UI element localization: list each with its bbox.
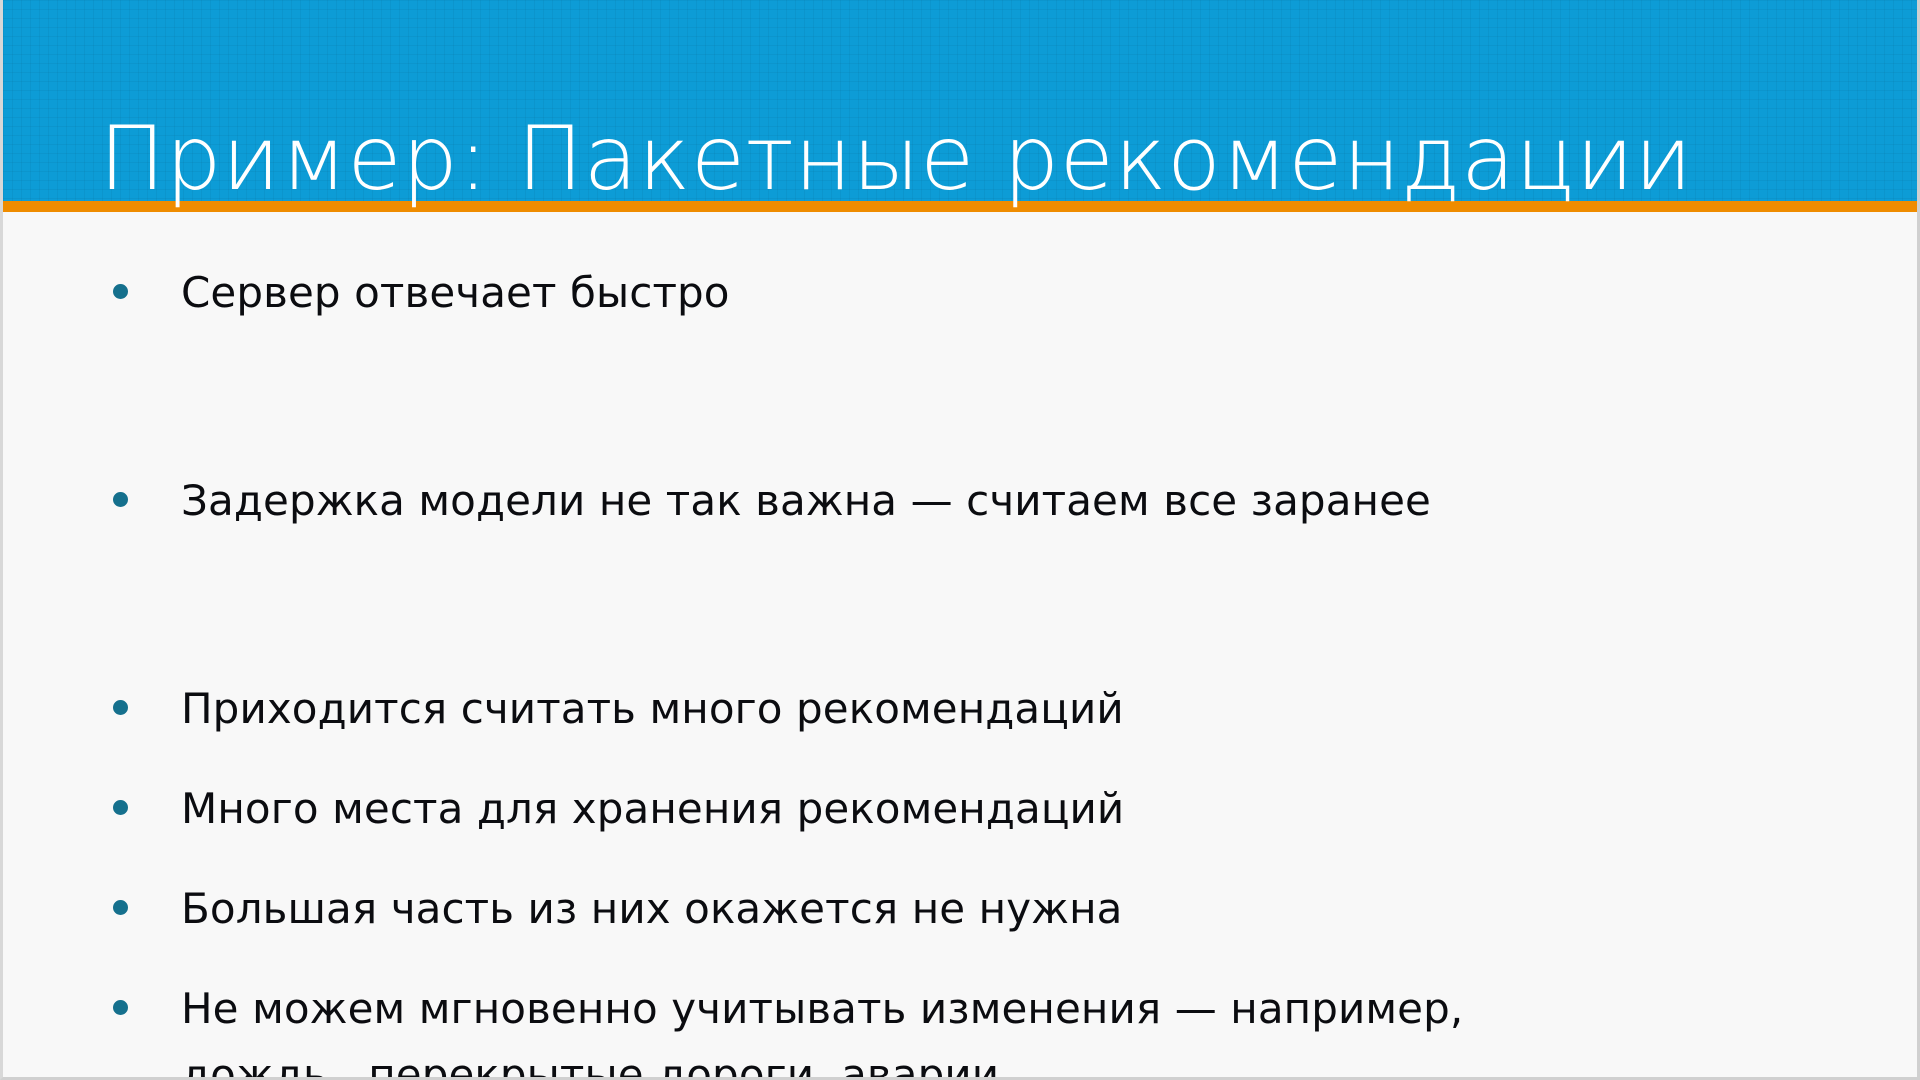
list-item: Задержка модели не так важна — считаем в…: [107, 468, 1807, 534]
bullet-text: Большая часть из них окажется не нужна: [181, 876, 1123, 942]
bullet-dot-icon: [113, 284, 128, 299]
bullet-dot-icon: [113, 700, 128, 715]
list-item: Много места для хранения рекомендаций: [107, 776, 1807, 842]
bullet-list: Сервер отвечает быстро Задержка модели н…: [107, 260, 1807, 1080]
bullet-text: Не можем мгновенно учитывать изменения —…: [181, 976, 1463, 1080]
bullet-text: Сервер отвечает быстро: [181, 260, 730, 326]
list-item: Сервер отвечает быстро: [107, 260, 1807, 326]
slide-body: Сервер отвечает быстро Задержка модели н…: [3, 212, 1920, 1077]
bullet-text: Приходится считать много рекомендаций: [181, 676, 1124, 742]
bullet-text: Много места для хранения рекомендаций: [181, 776, 1124, 842]
page-title: Пример: Пакетные рекомендации: [99, 107, 1859, 211]
presentation-slide: Пример: Пакетные рекомендации Сервер отв…: [0, 0, 1920, 1080]
bullet-text: Задержка модели не так важна — считаем в…: [181, 468, 1431, 534]
list-item: Приходится считать много рекомендаций: [107, 676, 1807, 742]
bullet-dot-icon: [113, 900, 128, 915]
bullet-dot-icon: [113, 1000, 128, 1015]
bullet-dot-icon: [113, 800, 128, 815]
list-item: Большая часть из них окажется не нужна: [107, 876, 1807, 942]
bullet-dot-icon: [113, 492, 128, 507]
list-item: Не можем мгновенно учитывать изменения —…: [107, 976, 1807, 1080]
